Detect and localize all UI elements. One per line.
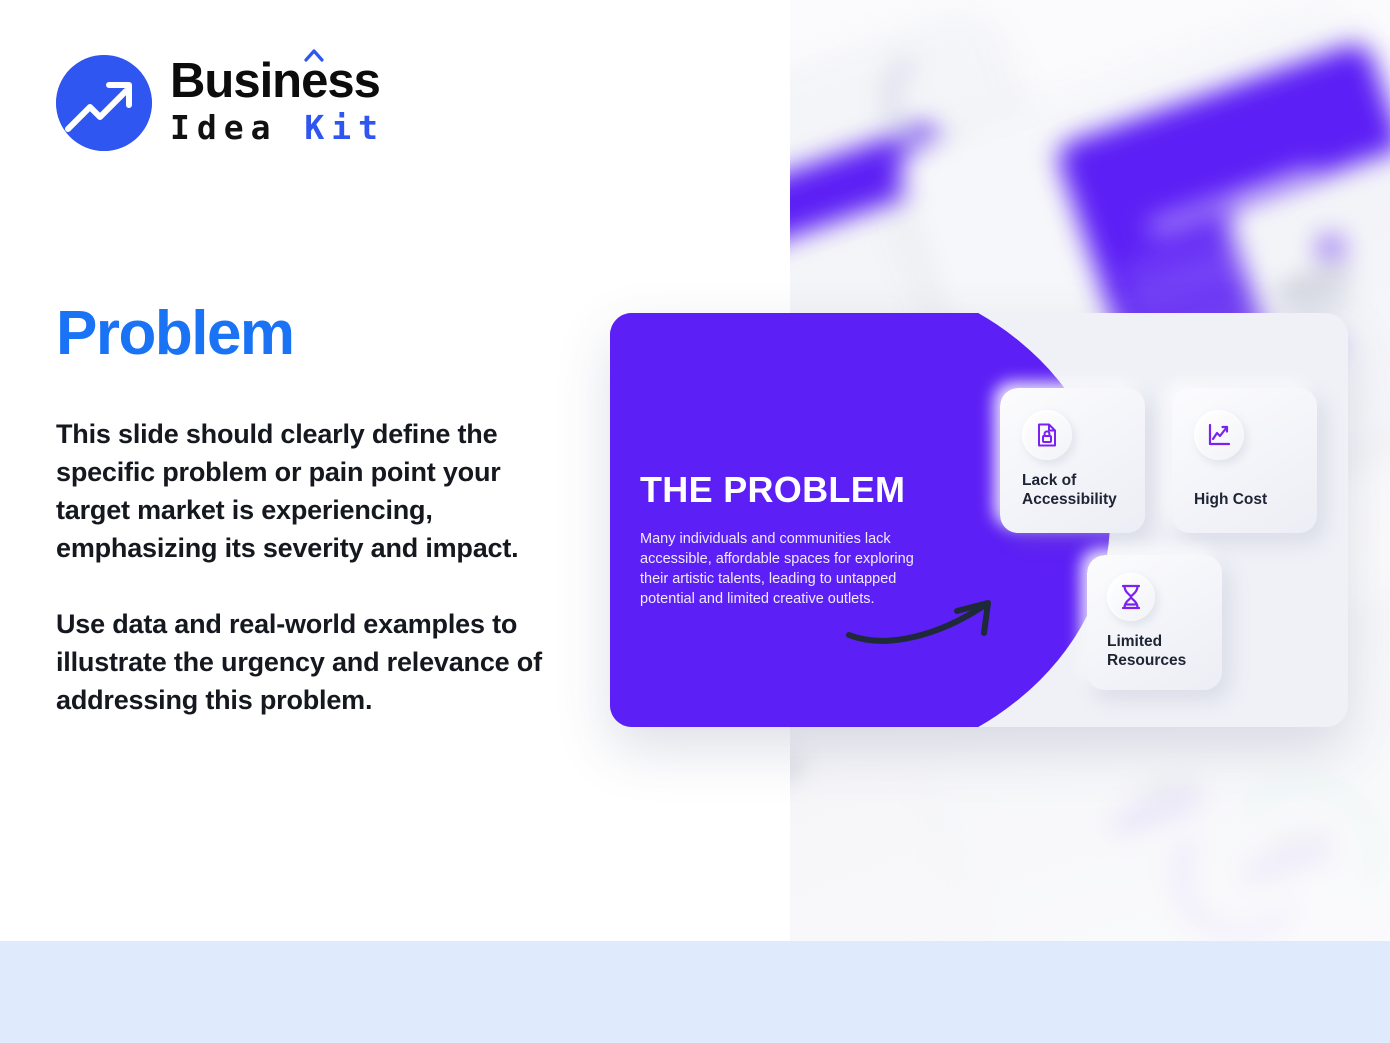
bottom-accent-strip — [0, 941, 1390, 1043]
brand-name-line2: Idea Kit — [170, 107, 385, 148]
page-title: Problem — [56, 298, 294, 369]
brand-logo[interactable]: Business Idea Kit — [56, 55, 385, 151]
slide-headline-block: THE PROBLEM Many individuals and communi… — [640, 471, 940, 609]
feature-tile-label: High Cost — [1194, 490, 1305, 509]
document-lock-icon — [1022, 410, 1072, 460]
backdrop-dot — [1317, 235, 1345, 263]
slide-preview-card[interactable]: THE PROBLEM Many individuals and communi… — [610, 313, 1348, 727]
body-paragraph-2: Use data and real-world examples to illu… — [56, 605, 566, 719]
caret-accent-icon — [304, 48, 324, 62]
feature-tile-label: Lack of Accessibility — [1022, 471, 1133, 509]
brand-kit-text: Kit — [304, 108, 385, 147]
feature-tile-label: Limited Resources — [1107, 632, 1210, 670]
feature-tile-high-cost[interactable]: High Cost — [1172, 388, 1317, 533]
brand-name-text: Business — [170, 54, 380, 108]
feature-tile-limited-resources[interactable]: Limited Resources — [1087, 555, 1222, 690]
feature-tile-lack-of-accessibility[interactable]: Lack of Accessibility — [1000, 388, 1145, 533]
brand-idea-text: Idea — [170, 108, 304, 147]
body-paragraph-1: This slide should clearly define the spe… — [56, 415, 566, 567]
slide-preview-page: Business Idea Kit Problem This slide sho… — [0, 0, 1390, 1043]
slide-heading: THE PROBLEM — [640, 471, 940, 509]
brand-name-line1: Business — [170, 57, 385, 107]
body-copy: This slide should clearly define the spe… — [56, 415, 566, 719]
curved-arrow-icon — [845, 597, 1005, 645]
hourglass-icon — [1107, 573, 1155, 621]
growth-arrow-circle-icon — [56, 55, 152, 151]
brand-wordmark: Business Idea Kit — [170, 57, 385, 148]
line-chart-icon — [1194, 410, 1244, 460]
